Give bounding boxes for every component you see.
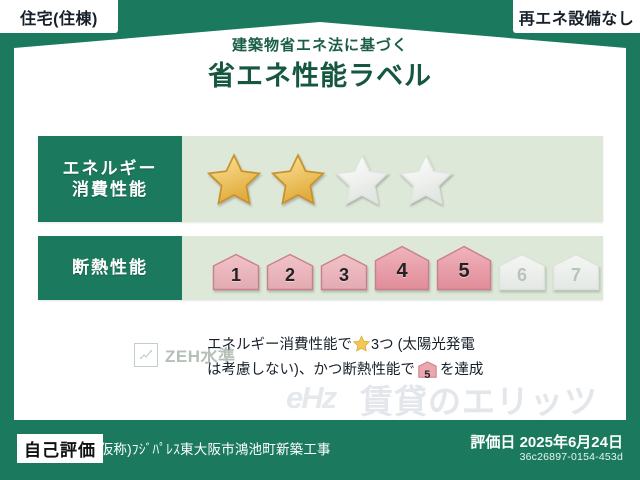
insulation-grade-5: 5 xyxy=(436,245,492,291)
desc-part2: 3つ (太陽光発電 xyxy=(371,337,475,353)
zeh-icon xyxy=(134,343,158,367)
evaluation-date: 評価日 2025年6月24日 xyxy=(470,431,623,452)
footer: 自己評価 (仮称)ﾌｼﾞﾊﾟﾚｽ東大阪市鴻池町新築工事 評価日 2025年6月2… xyxy=(0,420,640,480)
page-title: 建築物省エネ法に基づく 省エネ性能ラベル xyxy=(0,38,640,90)
title-main: 省エネ性能ラベル xyxy=(0,63,640,90)
project-name: (仮称)ﾌｼﾞﾊﾟﾚｽ東大阪市鴻池町新築工事 xyxy=(95,438,331,458)
desc-part3: は考慮しない)、かつ断熱性能で xyxy=(207,362,415,378)
star-filled-icon xyxy=(206,152,262,206)
desc-part1: エネルギー消費性能で xyxy=(207,337,352,353)
insulation-grade-value: 2 xyxy=(266,253,314,291)
inline-grade-value: 5 xyxy=(418,361,437,385)
tab-renewable-energy: 再エネ設備なし xyxy=(513,0,640,33)
achievement-description: エネルギー消費性能で 3つ (太陽光発電 は考慮しない)、かつ断熱性能で 5 を… xyxy=(203,330,603,386)
insulation-grade-3: 3 xyxy=(320,253,368,291)
energy-label-line2: 消費性能 xyxy=(72,179,148,200)
insulation-performance-row: 断熱性能 1234567 xyxy=(38,236,603,300)
insulation-grade-value: 1 xyxy=(212,253,260,291)
insulation-performance-label: 断熱性能 xyxy=(38,236,182,300)
insulation-grade-value: 5 xyxy=(436,245,492,291)
energy-performance-body xyxy=(182,136,603,222)
insulation-performance-body: 1234567 xyxy=(182,236,603,300)
insulation-label-text: 断熱性能 xyxy=(72,257,148,278)
insulation-grade-value: 4 xyxy=(374,245,430,291)
zeh-description-area: ZEH水準 エネルギー消費性能で 3つ (太陽光発電 は考慮しない)、かつ断熱性… xyxy=(38,330,603,386)
insulation-grade-7: 7 xyxy=(552,253,600,291)
energy-performance-label: エネルギー 消費性能 xyxy=(38,136,182,222)
insulation-grade-value: 6 xyxy=(498,253,546,291)
insulation-grade-4: 4 xyxy=(374,245,430,291)
self-evaluation-badge: 自己評価 xyxy=(17,434,103,463)
energy-label-page: 住宅(住棟) 再エネ設備なし 建築物省エネ法に基づく 省エネ性能ラベル エネルギ… xyxy=(0,0,640,480)
insulation-grade-value: 7 xyxy=(552,253,600,291)
desc-part4: を達成 xyxy=(440,362,484,378)
zeh-standard: ZEH水準 xyxy=(38,330,203,367)
title-subtitle: 建築物省エネ法に基づく xyxy=(0,38,640,53)
insulation-grade-1: 1 xyxy=(212,253,260,291)
evaluation-id: 36c26897-0154-453d xyxy=(520,451,623,463)
star-empty-icon xyxy=(398,152,454,206)
insulation-grade-value: 3 xyxy=(320,253,368,291)
inline-star-icon xyxy=(353,335,370,359)
star-filled-icon xyxy=(270,152,326,206)
insulation-grade-6: 6 xyxy=(498,253,546,291)
energy-performance-row: エネルギー 消費性能 xyxy=(38,136,603,222)
star-empty-icon xyxy=(334,152,390,206)
insulation-grade-scale: 1234567 xyxy=(206,245,600,291)
tab-building-type: 住宅(住棟) xyxy=(0,0,118,33)
inline-grade-badge: 5 xyxy=(418,361,437,385)
star-rating xyxy=(206,152,454,206)
energy-label-line1: エネルギー xyxy=(63,158,158,179)
insulation-grade-2: 2 xyxy=(266,253,314,291)
